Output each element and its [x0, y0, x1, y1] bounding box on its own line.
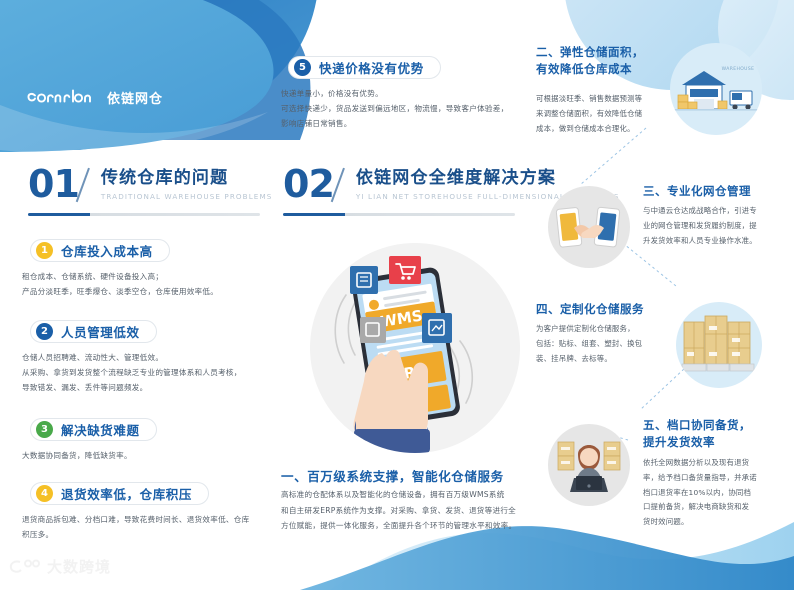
problem-title-2: 人员管理低效: [61, 322, 140, 341]
problem-body-2: 仓储人员招聘难、流动性大、管理低效。 从采购、拿货到发货整个流程缺乏专业的管理体…: [22, 351, 277, 395]
problem-body-5-line-2: 可选择快递少，货品发送到偏远地区，物流慢，导致客户体验差，: [281, 102, 539, 117]
section-01-number: 01: [28, 166, 79, 202]
section-01-rule: [28, 213, 260, 216]
logo-chinese-name: 依链网仓: [107, 93, 163, 106]
problem-pill-4: 4 退货效率低，仓库积压: [30, 482, 209, 505]
pallet-boxes-icon: [676, 302, 762, 388]
problem-pill-3: 3 解决缺货难题: [30, 418, 157, 441]
watermark-text: 大数跨境: [47, 556, 111, 577]
solution-1-line-1: 高标准的仓配体系以及智能化的仓储设备，拥有百万级WMS系统: [281, 487, 543, 503]
problem-title-3: 解决缺货难题: [61, 420, 140, 439]
illustration-phone-system: WMS ERP: [310, 243, 520, 453]
solution-2-heading-line-1: 二、弹性仓储面积，: [536, 44, 644, 61]
section-02-slash-icon: [334, 166, 356, 206]
solution-5-body: 依托全网数据分析以及现有退货 率，给予档口备货量指导，并承诺 档口退货率在10%…: [643, 456, 779, 530]
problem-body-4-line-2: 积压多。: [22, 528, 277, 543]
section-01-subtitle: TRADITIONAL WAREHOUSE PROBLEMS: [101, 192, 273, 201]
section-02-number: 02: [283, 166, 334, 202]
problem-body-2-line-3: 导致错发、漏发、丢件等问题频发。: [22, 381, 277, 396]
handshake-phones-icon: [548, 186, 630, 268]
brand-logo: 依链网仓: [26, 88, 163, 106]
solution-5-line-4: 口提前备货，解决电商缺货和发: [643, 500, 779, 515]
problem-body-3: 大数据协同备货，降低缺货率。: [22, 449, 272, 464]
solution-5-heading-line-2: 提升发货效率: [643, 434, 751, 451]
problem-badge-3: 3: [36, 421, 53, 438]
solution-2-heading-line-2: 有效降低仓库成本: [536, 61, 644, 78]
section-01-slash-icon: [79, 166, 101, 206]
problem-badge-2: 2: [36, 323, 53, 340]
watermark: 大数跨境: [8, 556, 111, 577]
section-01-header: 01 传统仓库的问题 TRADITIONAL WAREHOUSE PROBLEM…: [28, 166, 272, 216]
solution-3-line-2: 业的网仓管理和发货履约制度，提: [643, 219, 778, 234]
problem-body-4: 退货商品拆包难、分档口难，导致花费时间长、退货效率低、仓库 积压多。: [22, 513, 277, 543]
solution-4-heading: 四、定制化仓储服务: [536, 301, 644, 318]
problem-title-5: 快递价格没有优势: [319, 58, 424, 77]
solution-5-heading-line-1: 五、档口协同备货，: [643, 417, 751, 434]
problem-body-5-line-3: 影响店铺日常销售。: [281, 117, 539, 132]
solution-3-line-1: 与中通云仓达成战略合作，引进专: [643, 204, 778, 219]
solution-5-line-1: 依托全网数据分析以及现有退货: [643, 456, 779, 471]
problem-body-1-line-1: 租仓成本、仓储系统、硬件设备投入高；: [22, 270, 272, 285]
problem-body-5: 快递单量小，价格没有优势。 可选择快递少，货品发送到偏远地区，物流慢，导致客户体…: [281, 87, 539, 131]
section-02-title: 依链网仓全维度解决方案: [356, 169, 620, 189]
problem-title-1: 仓库投入成本高: [61, 241, 153, 260]
problem-body-1-line-2: 产品分淡旺季，旺季爆仓、淡季空仓，仓库使用效率低。: [22, 285, 272, 300]
solution-2-heading: 二、弹性仓储面积， 有效降低仓库成本: [536, 44, 644, 77]
solution-3-line-3: 升发货效率和人员专业操作水准。: [643, 234, 778, 249]
problem-badge-4: 4: [36, 485, 53, 502]
solution-1-line-2: 和自主研发ERP系统作为支撑。对采购、拿货、发货、退货等进行全: [281, 503, 543, 519]
problem-pill-2: 2 人员管理低效: [30, 320, 157, 343]
infographic-page: 依链网仓 01 传统仓库的问题 TRADITIONAL WAREHOUSE PR…: [0, 0, 794, 590]
section-02-rule: [283, 213, 515, 216]
watermark-logo-icon: [8, 557, 42, 577]
solution-5-heading: 五、档口协同备货， 提升发货效率: [643, 417, 751, 450]
solution-4-line-3: 装、挂吊牌、去标等。: [536, 352, 662, 367]
solution-4-line-2: 包括：贴标、组套、塑封、换包: [536, 337, 662, 352]
solution-5-line-3: 档口退货率在10%以内，协同档: [643, 486, 779, 501]
problem-body-2-line-1: 仓储人员招聘难、流动性大、管理低效。: [22, 351, 277, 366]
problem-title-4: 退货效率低，仓库积压: [61, 484, 192, 503]
solution-1-body: 高标准的仓配体系以及智能化的仓储设备，拥有百万级WMS系统 和自主研发ERP系统…: [281, 487, 543, 534]
illustration-pallets: [676, 302, 762, 388]
solution-2-line-3: 成本，做到仓储成本合理化。: [536, 122, 662, 137]
logo-wordmark-icon: [26, 88, 100, 106]
problem-body-4-line-1: 退货商品拆包难、分档口难，导致花费时间长、退货效率低、仓库: [22, 513, 277, 528]
problem-body-2-line-2: 从采购、拿货到发货整个流程缺乏专业的管理体系和人员考核，: [22, 366, 277, 381]
solution-4-body: 为客户提供定制化仓储服务， 包括：贴标、组套、塑封、换包 装、挂吊牌、去标等。: [536, 322, 662, 366]
svg-text:WAREHOUSE: WAREHOUSE: [722, 66, 755, 72]
problem-body-3-line-1: 大数据协同备货，降低缺货率。: [22, 449, 272, 464]
problem-pill-1: 1 仓库投入成本高: [30, 239, 170, 262]
solution-2-body: 可根据淡旺季、销售数据预测等 来调整仓储面积，有效降低仓储 成本，做到仓储成本合…: [536, 92, 662, 136]
problem-badge-5: 5: [294, 59, 311, 76]
section-01-title: 传统仓库的问题: [101, 169, 273, 189]
solution-4-line-1: 为客户提供定制化仓储服务，: [536, 322, 662, 337]
solution-1-heading: 一、百万级系统支撑，智能化仓储服务: [281, 466, 504, 485]
solution-3-heading: 三、专业化网仓管理: [643, 183, 751, 200]
illustration-handshake: [548, 186, 630, 268]
operator-laptop-icon: [548, 424, 630, 506]
solution-2-line-2: 来调整仓储面积，有效降低仓储: [536, 107, 662, 122]
problem-body-1: 租仓成本、仓储系统、硬件设备投入高； 产品分淡旺季，旺季爆仓、淡季空仓，仓库使用…: [22, 270, 272, 300]
illustration-operator: [548, 424, 630, 506]
problem-pill-5: 5 快递价格没有优势: [288, 56, 441, 79]
problem-body-5-line-1: 快递单量小，价格没有优势。: [281, 87, 539, 102]
solution-1-line-3: 方位赋能，提供一体化服务，全面提升各个环节的管理水平和效率。: [281, 518, 543, 534]
warehouse-icon: WAREHOUSE: [670, 43, 762, 135]
solution-3-body: 与中通云仓达成战略合作，引进专 业的网仓管理和发货履约制度，提 升发货效率和人员…: [643, 204, 778, 248]
solution-5-line-5: 货时效问题。: [643, 515, 779, 530]
solution-5-line-2: 率，给予档口备货量指导，并承诺: [643, 471, 779, 486]
illustration-warehouse: WAREHOUSE: [670, 43, 762, 135]
problem-badge-1: 1: [36, 242, 53, 259]
phone-wms-erp-icon: WMS ERP: [310, 243, 520, 453]
solution-2-line-1: 可根据淡旺季、销售数据预测等: [536, 92, 662, 107]
